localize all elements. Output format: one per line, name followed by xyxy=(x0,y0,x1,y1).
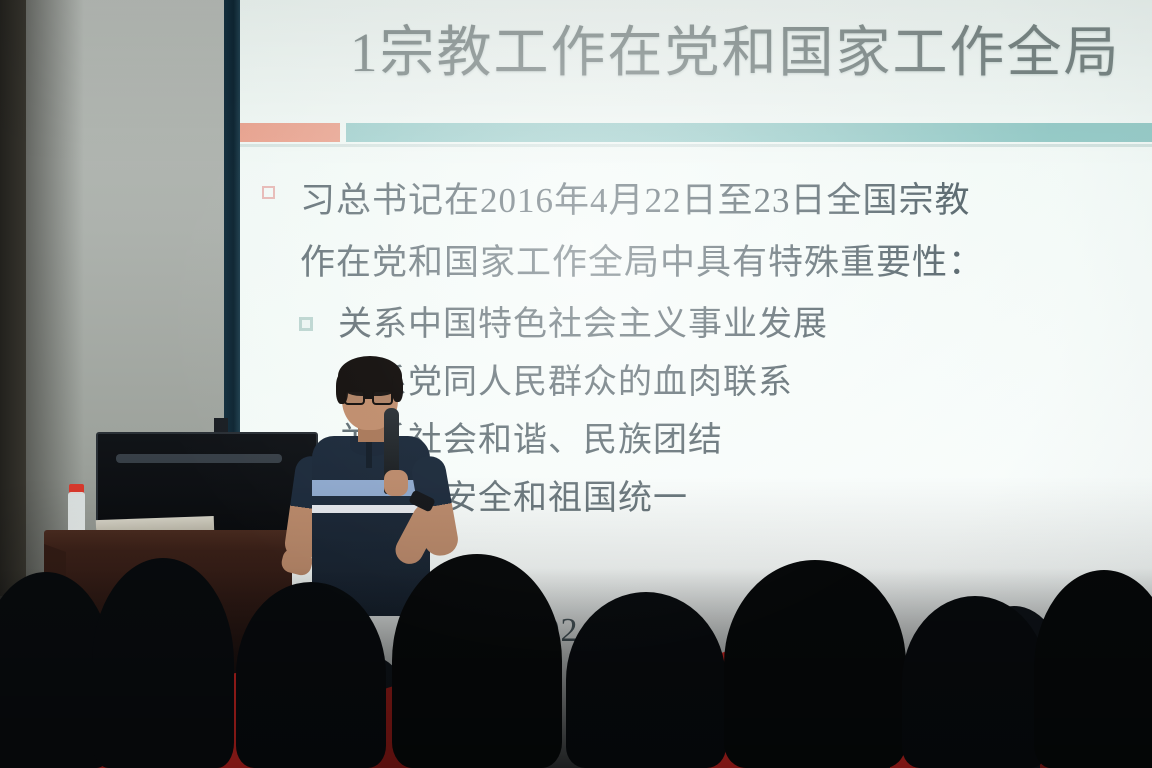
square-bullet-icon xyxy=(262,186,275,199)
audience-head xyxy=(724,560,906,768)
glasses-left-lens-icon xyxy=(344,390,365,405)
glasses-bridge-icon xyxy=(365,396,372,399)
slide-level1-line-2: 作在党和国家工作全局中具有特殊重要性： xyxy=(300,232,1152,294)
shirt-stripe-white xyxy=(312,505,430,513)
divider-coral-segment xyxy=(240,123,340,142)
presenter-right-hand xyxy=(384,470,408,496)
audience-head xyxy=(902,596,1048,768)
audience-head xyxy=(392,554,562,768)
slide-divider xyxy=(240,120,1152,146)
room-left-dark-edge xyxy=(0,0,26,596)
shirt-placket xyxy=(366,440,372,468)
slide-level1-line-1: 习总书记在2016年4月22日至23日全国宗教 xyxy=(300,170,1152,232)
lecture-hall-scene: 1宗教工作在党和国家工作全局 习总书记在2016年4月22日至23日全国宗教 作… xyxy=(0,0,1152,768)
small-square-bullet-icon xyxy=(299,317,313,331)
glasses-right-lens-icon xyxy=(372,390,393,405)
monitor-glare xyxy=(116,454,282,463)
audience xyxy=(0,518,1152,768)
divider-underline xyxy=(240,144,1152,147)
divider-teal-segment xyxy=(346,123,1152,142)
audience-head xyxy=(236,582,386,768)
slide-title: 1宗教工作在党和国家工作全局 xyxy=(350,22,1121,84)
presenter-hair-right xyxy=(392,374,403,402)
slide-level1-item: 习总书记在2016年4月22日至23日全国宗教 作在党和国家工作全局中具有特殊重… xyxy=(240,170,1152,294)
slide-bullet-1: 关系中国特色社会主义事业发展 xyxy=(338,296,1152,354)
audience-head xyxy=(566,592,726,768)
audience-head xyxy=(92,558,234,768)
